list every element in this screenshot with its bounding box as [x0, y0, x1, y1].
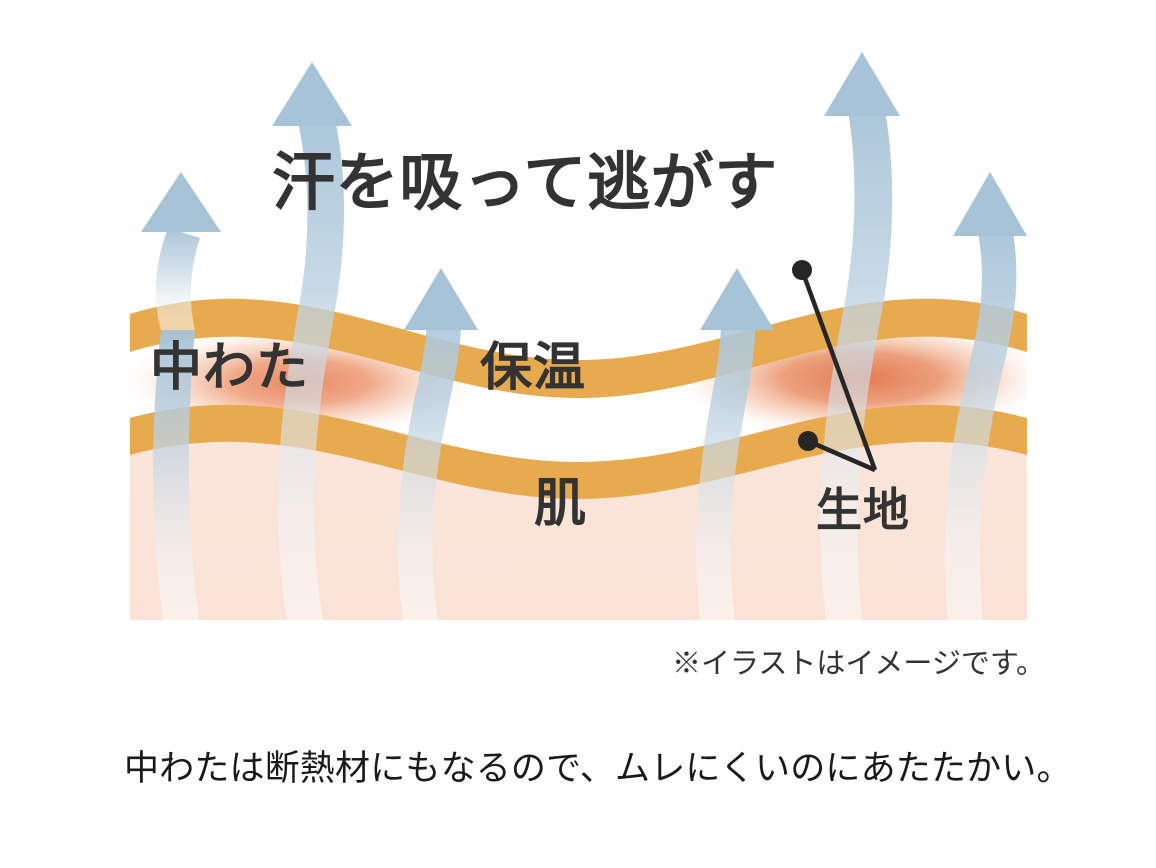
- infographic-page: 汗を吸って逃がす 中わた 保温 肌 生地 ※イラストはイメージです。 中わたは断…: [0, 0, 1156, 868]
- diagram-title: 汗を吸って逃がす: [272, 152, 778, 215]
- label-nakawata: 中わた: [150, 342, 309, 394]
- illustration-disclaimer: ※イラストはイメージです。: [672, 640, 1045, 682]
- label-hada: 肌: [534, 478, 587, 530]
- label-kiji: 生地: [816, 487, 910, 533]
- label-hoon: 保温: [480, 342, 586, 394]
- fabric-layer-diagram: 汗を吸って逃がす 中わた 保温 肌 生地: [0, 0, 1156, 660]
- caption-text: 中わたは断熱材にもなるので、ムレにくいのにあたたかい。: [124, 740, 1072, 791]
